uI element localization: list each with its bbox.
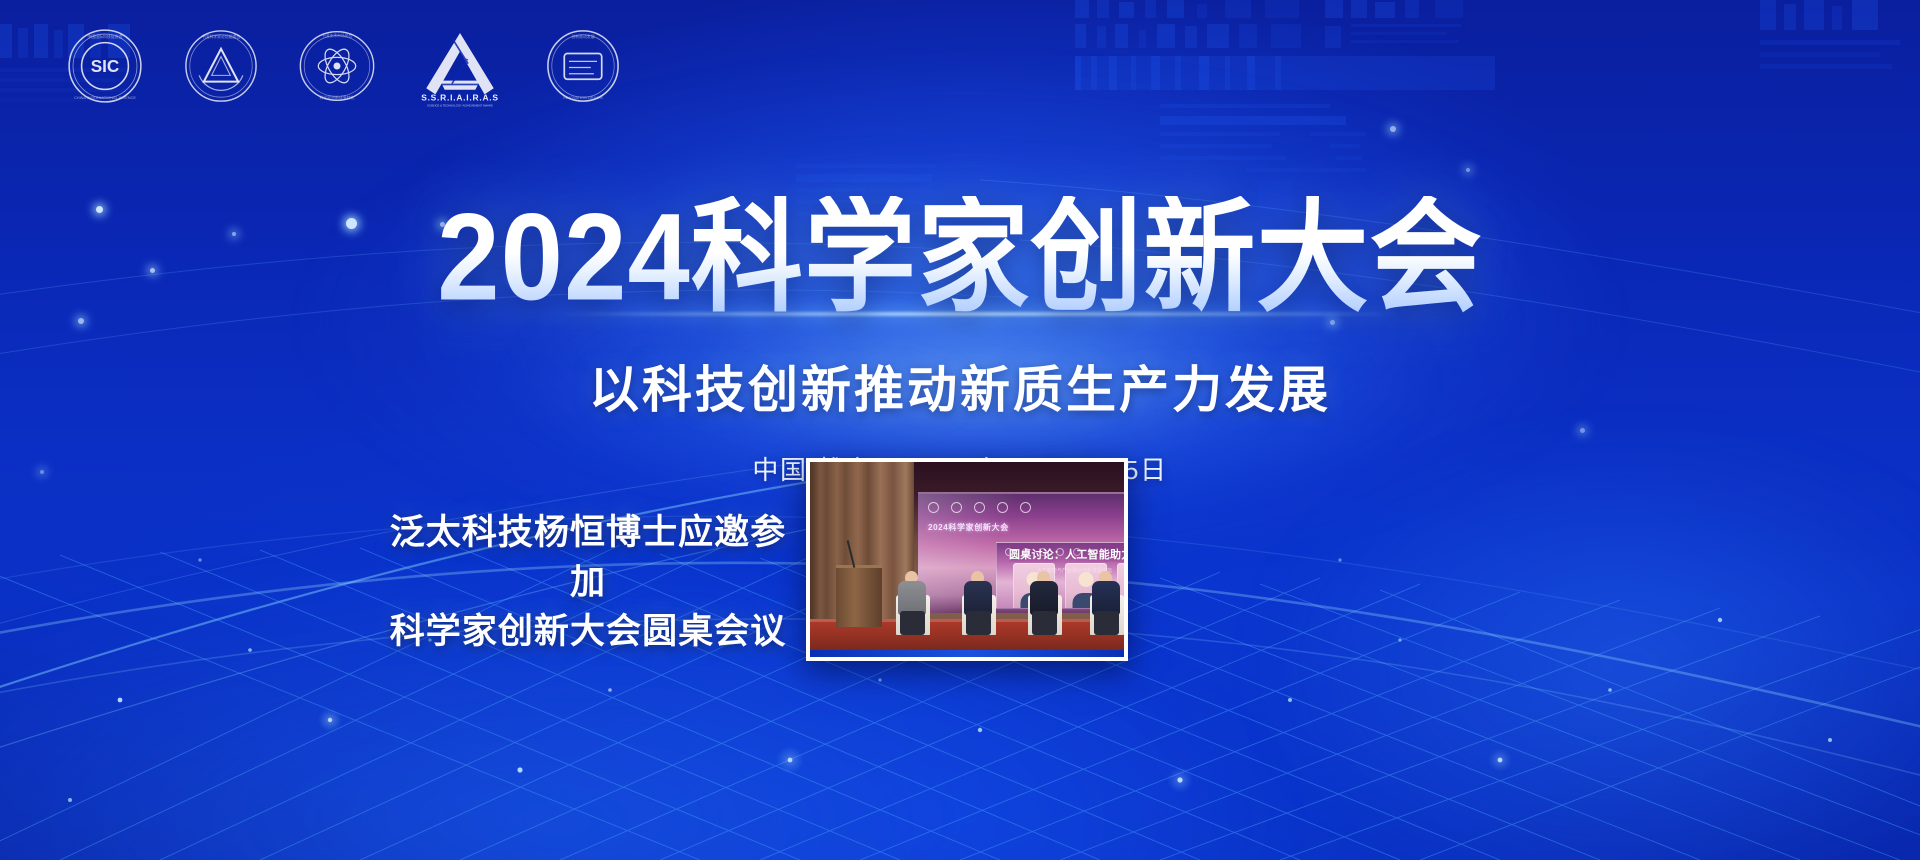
svg-text:CHINA INTERNATIONAL SCIENCE: CHINA INTERNATIONAL SCIENCE: [74, 95, 136, 100]
svg-text:中国科学家论坛组委会: 中国科学家论坛组委会: [202, 34, 241, 39]
page-subtitle: 以科技创新推动新质生产力发展: [0, 350, 1920, 422]
poster-background: SIC 中国国际科技促进会 CHINA INTERNATIONAL SCIENC…: [0, 0, 1920, 860]
blue-circle-emblem-icon: 创新驱动发展 INNOVATION DRIVEN: [544, 27, 622, 105]
sparkle: [1390, 126, 1396, 132]
svg-text:S.S.R.I.A.I.R.A.S: S.S.R.I.A.I.R.A.S: [421, 93, 499, 103]
stage-banner-text: 2024科学家创新大会: [928, 522, 1009, 533]
svg-text:创新驱动发展: 创新驱动发展: [571, 34, 594, 39]
caption-block: 泛太科技杨恒博士应邀参加 科学家创新大会圆桌会议: [378, 508, 798, 657]
svg-text:中国技术市场协会: 中国技术市场协会: [321, 33, 352, 38]
svg-text:SIC: SIC: [91, 56, 120, 76]
page-title: 2024科学家创新大会: [0, 196, 1920, 319]
sparkle: [1466, 168, 1470, 172]
screen-heading: 圆桌讨论：人工智能助力新质生产力: [1009, 546, 1124, 562]
caption-line-2: 科学家创新大会圆桌会议: [378, 607, 798, 657]
event-photo: 2024科学家创新大会 嘉宾一 嘉宾二: [806, 458, 1128, 661]
ssr-triangle-logo-icon: S.S.R.I.A.I.R.A.S SCIENCE & TECHNOLOGY A…: [414, 22, 506, 110]
photo-bottom-band: [810, 650, 1124, 657]
svg-text:科学家创新成果转化: 科学家创新成果转化: [319, 95, 354, 100]
screen-top-icons: [928, 502, 1031, 513]
caption-line-1: 泛太科技杨恒博士应邀参加: [378, 508, 798, 607]
triangle-seal-emblem-icon: 中国科学家论坛组委会: [182, 27, 260, 105]
svg-text:INNOVATION DRIVEN: INNOVATION DRIVEN: [563, 95, 603, 100]
organizer-logo-row: SIC 中国国际科技促进会 CHINA INTERNATIONAL SCIENC…: [66, 22, 622, 110]
atom-seal-emblem-icon: 中国技术市场协会 科学家创新成果转化: [298, 27, 376, 105]
title-block: 2024科学家创新大会 以科技创新推动新质生产力发展 中国·雄安 2024年12…: [0, 196, 1920, 487]
photo-podium: [836, 565, 882, 627]
svg-text:中国国际科技促进会: 中国国际科技促进会: [87, 34, 122, 39]
screen-subheading: 人工智能与产业融合创新发展论坛: [1037, 567, 1124, 574]
sic-emblem-icon: SIC 中国国际科技促进会 CHINA INTERNATIONAL SCIENC…: [66, 27, 144, 105]
svg-text:SCIENCE & TECHNOLOGY ACHIEVEME: SCIENCE & TECHNOLOGY ACHIEVEMENT AWARD: [427, 104, 493, 108]
